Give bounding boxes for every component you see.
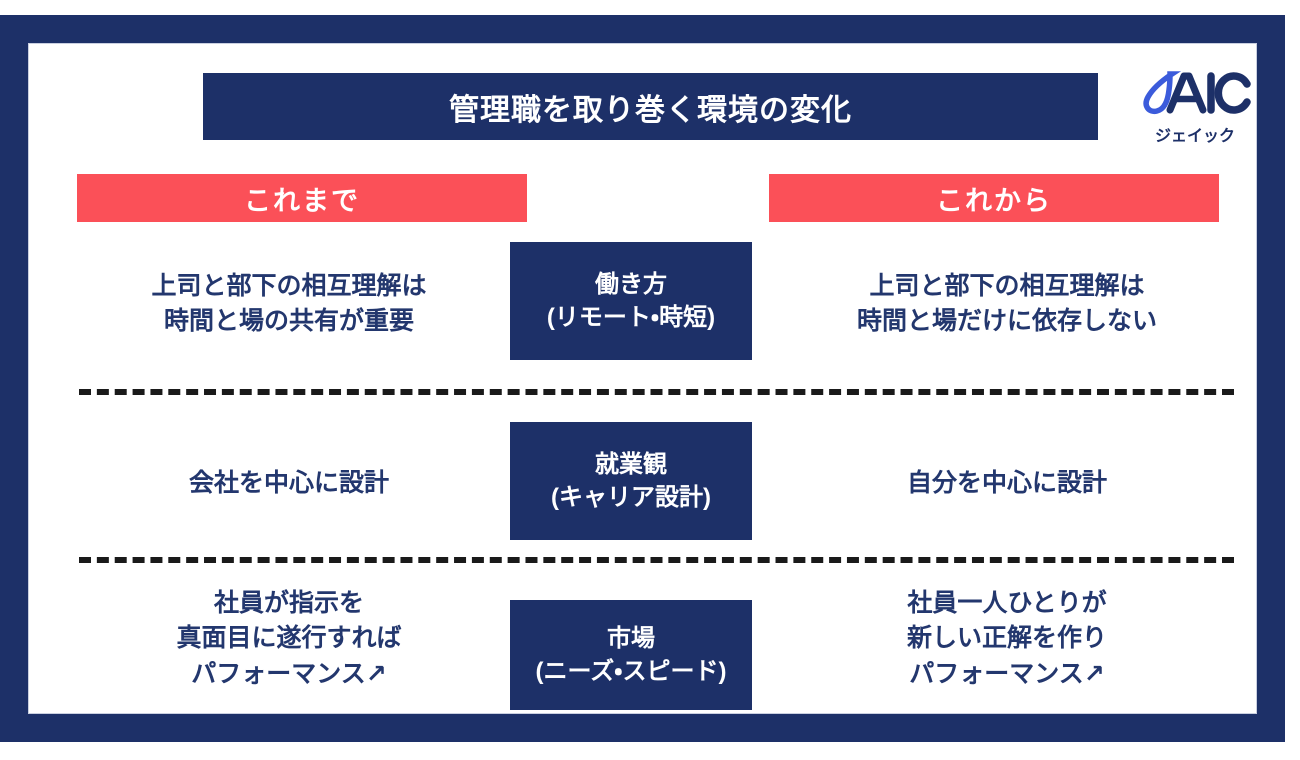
column-header-past: これまで bbox=[77, 174, 527, 222]
category-chip-work-values: 就業観 (キャリア設計) bbox=[510, 422, 752, 540]
category-detail: (リモート・時短) bbox=[547, 301, 715, 334]
category-chip-market: 市場 (ニーズ・スピード) bbox=[510, 600, 752, 710]
column-header-past-label: これまで bbox=[244, 179, 360, 218]
category-detail: (キャリア設計) bbox=[551, 481, 711, 514]
row-future-line: 上司と部下の相互理解は bbox=[869, 269, 1144, 305]
column-header-future-label: これから bbox=[936, 179, 1052, 218]
row-past-cell: 会社を中心に設計 bbox=[59, 419, 519, 549]
row-future-line: 社員一人ひとりが bbox=[907, 586, 1106, 622]
row-future-line: 時間と場だけに依存しない bbox=[857, 304, 1157, 340]
category-detail: (ニーズ・スピード) bbox=[536, 655, 727, 688]
row-past-line: 真面目に遂行すれば bbox=[176, 621, 401, 657]
row-future-cell: 上司と部下の相互理解は 時間と場だけに依存しない bbox=[777, 239, 1237, 369]
row-future-cell: 社員一人ひとりが 新しい正解を作り パフォーマンス↗ bbox=[777, 564, 1237, 714]
column-header-future: これから bbox=[769, 174, 1219, 222]
row-divider bbox=[79, 389, 1234, 395]
logo-subtitle: ジェイック bbox=[1155, 122, 1235, 146]
row-past-line: 時間と場の共有が重要 bbox=[164, 304, 414, 340]
row-past-line: 会社を中心に設計 bbox=[189, 466, 389, 502]
category-chip-working-style: 働き方 (リモート・時短) bbox=[510, 242, 752, 360]
slide-canvas: 管理職を取り巻く環境の変化 ジェイック これまで bbox=[28, 43, 1257, 714]
page-title: 管理職を取り巻く環境の変化 bbox=[449, 85, 852, 129]
row-divider bbox=[79, 557, 1234, 563]
row-past-line: 上司と部下の相互理解は bbox=[151, 269, 426, 305]
row-future-line: 自分を中心に設計 bbox=[907, 466, 1107, 502]
row-future-line: 新しい正解を作り bbox=[907, 621, 1107, 657]
row-future-line: パフォーマンス↗ bbox=[909, 657, 1104, 693]
row-future-cell: 自分を中心に設計 bbox=[777, 419, 1237, 549]
category-name: 就業観 bbox=[595, 448, 667, 481]
row-past-cell: 上司と部下の相互理解は 時間と場の共有が重要 bbox=[59, 239, 519, 369]
slide-frame: 管理職を取り巻く環境の変化 ジェイック これまで bbox=[0, 15, 1285, 742]
category-name: 働き方 bbox=[595, 268, 667, 301]
page-title-bar: 管理職を取り巻く環境の変化 bbox=[203, 73, 1098, 140]
row-past-line: 社員が指示を bbox=[214, 586, 364, 622]
brand-logo: ジェイック bbox=[1129, 66, 1261, 150]
category-name: 市場 bbox=[607, 622, 655, 655]
jaic-logo-icon bbox=[1139, 70, 1251, 121]
row-past-cell: 社員が指示を 真面目に遂行すれば パフォーマンス↗ bbox=[59, 564, 519, 714]
row-past-line: パフォーマンス↗ bbox=[191, 657, 386, 693]
